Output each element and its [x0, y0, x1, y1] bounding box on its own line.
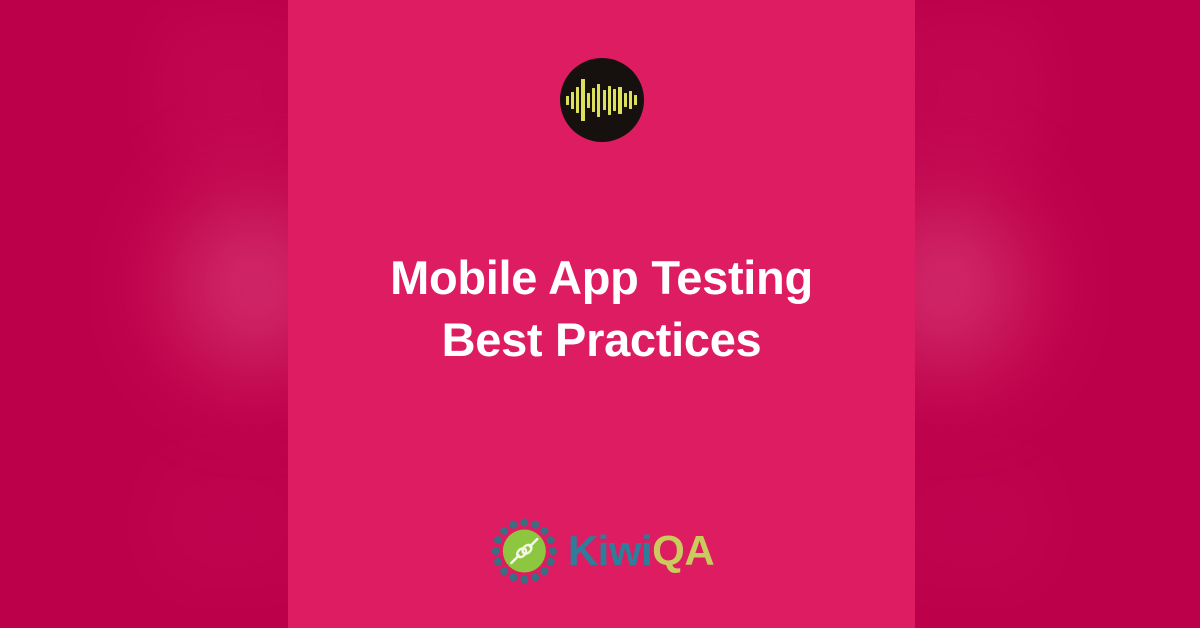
logo-mark-dot-5 — [548, 547, 556, 555]
logo-mark-dot-11 — [500, 567, 508, 575]
logo-mark-dot-10 — [509, 573, 517, 581]
waveform-bar-14 — [634, 95, 637, 105]
backdrop-smudge-bottom-left — [150, 458, 310, 588]
center-card: Mobile App Testing Best Practices K — [288, 0, 915, 628]
logo-mark-dot-8 — [531, 573, 539, 581]
waveform-bar-10 — [613, 89, 616, 111]
kiwiqa-logo-text: Kiwi QA — [568, 530, 714, 572]
kiwiqa-logo[interactable]: Kiwi QA — [489, 516, 714, 586]
page-title-line-2: Best Practices — [312, 309, 891, 371]
logo-text-kiwi: Kiwi — [568, 530, 652, 572]
logo-mark-dot-15 — [500, 527, 508, 535]
waveform-bar-7 — [597, 84, 600, 117]
waveform-bar-2 — [571, 92, 574, 109]
logo-mark-dot-12 — [493, 558, 501, 566]
audio-waveform-badge — [560, 58, 644, 142]
waveform-bar-1 — [566, 96, 569, 105]
logo-mark-dot-14 — [493, 536, 501, 544]
waveform-bar-11 — [618, 87, 621, 114]
waveform-bar-9 — [608, 86, 611, 115]
logo-mark-dot-2 — [531, 521, 539, 529]
waveform-bar-3 — [576, 87, 579, 113]
kiwiqa-logo-mark-icon — [489, 516, 559, 586]
logo-mark-dot-4 — [546, 536, 554, 544]
logo-mark-dot-7 — [540, 567, 548, 575]
waveform-bar-8 — [603, 90, 606, 110]
logo-mark-dot-9 — [520, 576, 528, 584]
waveform-bar-13 — [629, 91, 632, 109]
waveform-bar-4 — [581, 79, 584, 121]
audio-waveform-icon — [566, 77, 638, 123]
page-title-line-1: Mobile App Testing — [390, 251, 813, 304]
waveform-bar-12 — [624, 93, 627, 107]
share-card-canvas: Mobile App Testing Best Practices K — [0, 0, 1200, 628]
waveform-bar-6 — [592, 88, 595, 112]
logo-mark-dot-3 — [540, 527, 548, 535]
logo-mark-dot-16 — [509, 521, 517, 529]
logo-mark-dot-1 — [520, 519, 528, 527]
logo-mark-dot-6 — [546, 558, 554, 566]
waveform-bar-5 — [587, 93, 590, 108]
logo-mark-dot-13 — [491, 547, 499, 555]
page-title: Mobile App Testing Best Practices — [288, 247, 915, 370]
logo-text-qa: QA — [652, 530, 714, 572]
